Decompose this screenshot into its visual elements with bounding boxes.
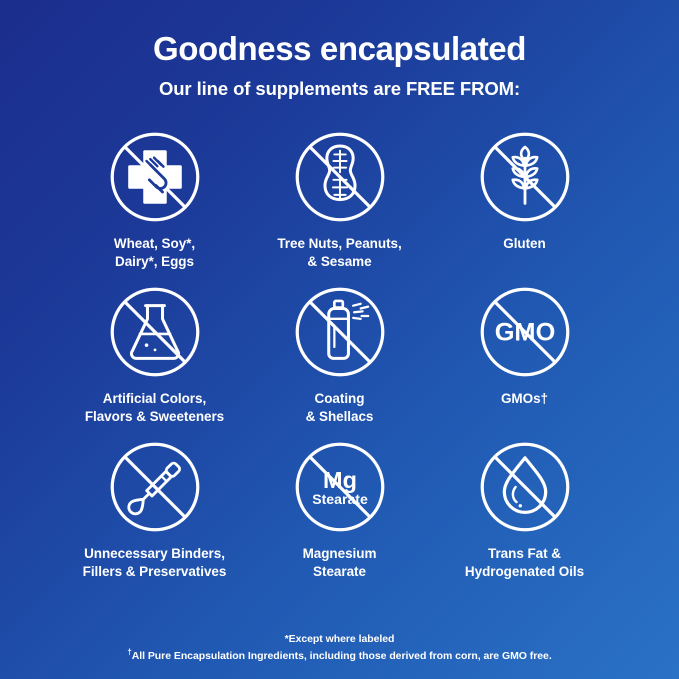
free-from-item-label: Coating & Shellacs: [306, 390, 374, 426]
no-dropper-icon: [108, 440, 202, 534]
free-from-item-trans-fat: Trans Fat & Hydrogenated Oils: [432, 440, 617, 595]
free-from-item-nuts: Tree Nuts, Peanuts, & Sesame: [247, 130, 432, 285]
header: Goodness encapsulated Our line of supple…: [0, 0, 679, 100]
infographic-page: Goodness encapsulated Our line of supple…: [0, 0, 679, 679]
footnote-dagger: †All Pure Encapsulation Ingredients, inc…: [0, 648, 679, 665]
free-from-item-gluten: Gluten: [432, 130, 617, 285]
page-title: Goodness encapsulated: [0, 30, 679, 68]
no-mg-stearate-icon: Mg Stearate: [293, 440, 387, 534]
no-flask-icon: [108, 285, 202, 379]
free-from-item-artificial: Artificial Colors, Flavors & Sweeteners: [62, 285, 247, 440]
free-from-item-label: Wheat, Soy*, Dairy*, Eggs: [114, 235, 195, 271]
no-wheat-stalk-icon: [478, 130, 572, 224]
free-from-item-label: GMOs†: [501, 390, 548, 408]
free-from-item-coating: Coating & Shellacs: [247, 285, 432, 440]
mg-icon-text: Mg: [323, 467, 357, 493]
free-from-item-label: Trans Fat & Hydrogenated Oils: [465, 545, 584, 581]
gmo-icon-text: GMO: [494, 318, 555, 346]
free-from-item-mg-stearate: Mg Stearate Magnesium Stearate: [247, 440, 432, 595]
footnotes: *Except where labeled †All Pure Encapsul…: [0, 631, 679, 665]
no-gmo-icon: GMO: [478, 285, 572, 379]
no-spray-can-icon: [293, 285, 387, 379]
free-from-item-allergens: Wheat, Soy*, Dairy*, Eggs: [62, 130, 247, 285]
no-droplet-icon: [478, 440, 572, 534]
free-from-item-gmo: GMO GMOs†: [432, 285, 617, 440]
stearate-icon-text: Stearate: [312, 491, 368, 507]
free-from-item-label: Unnecessary Binders, Fillers & Preservat…: [83, 545, 227, 581]
page-subtitle: Our line of supplements are FREE FROM:: [0, 78, 679, 100]
free-from-item-binders: Unnecessary Binders, Fillers & Preservat…: [62, 440, 247, 595]
footnote-asterisk: *Except where labeled: [0, 631, 679, 648]
free-from-item-label: Gluten: [503, 235, 545, 253]
no-cross-fork-icon: [108, 130, 202, 224]
no-peanut-icon: [293, 130, 387, 224]
free-from-item-label: Tree Nuts, Peanuts, & Sesame: [277, 235, 401, 271]
free-from-item-label: Magnesium Stearate: [303, 545, 377, 581]
footnote-dagger-text: All Pure Encapsulation Ingredients, incl…: [132, 650, 552, 662]
free-from-item-label: Artificial Colors, Flavors & Sweeteners: [85, 390, 224, 426]
free-from-grid: Wheat, Soy*, Dairy*, Eggs: [0, 130, 679, 595]
